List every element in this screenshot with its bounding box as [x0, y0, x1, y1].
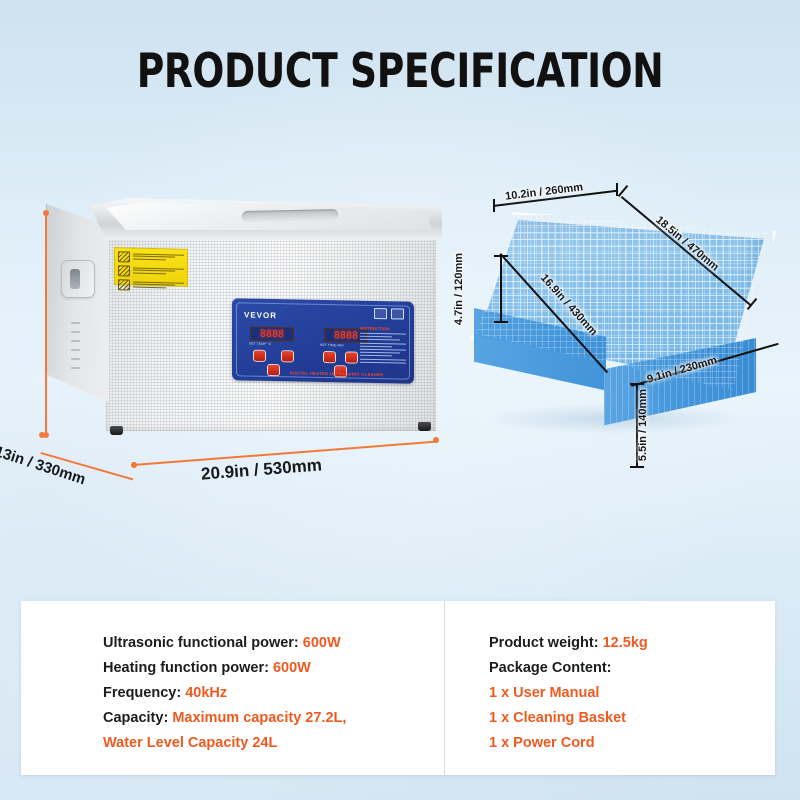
spec-row: Frequency: 40kHz [103, 681, 444, 706]
control-panel[interactable]: VEVOR 8888 SET TEMP °C 8888 SET TIME MIN… [232, 298, 414, 383]
time-down-button[interactable] [346, 352, 357, 362]
instruction-heading: INSTRUCTION [360, 326, 406, 332]
timer-display-caption: SET TIME MIN [320, 343, 344, 347]
cleaner-side-vents [71, 322, 85, 386]
brand-logo: VEVOR [244, 310, 277, 320]
cleaner-side-handle [61, 260, 95, 298]
heat-start-button[interactable] [268, 365, 279, 375]
spec-row: Product weight: 12.5kg [489, 631, 775, 656]
cleaning-basket-illustration [470, 198, 780, 468]
dimension-endpoint [43, 210, 49, 216]
spec-label: Heating function power: [103, 660, 269, 676]
spec-row: Capacity: Maximum capacity 27.2L, [103, 706, 444, 731]
basket-dimension-tick [494, 321, 508, 323]
warning-icon [118, 251, 130, 262]
package-item: 1 x Power Cord [489, 731, 775, 756]
caution-icon [118, 265, 130, 276]
instruction-block: INSTRUCTION [360, 326, 406, 366]
dimension-endpoint [39, 432, 45, 438]
spec-value: 600W [303, 635, 341, 651]
degas-icon [374, 308, 387, 319]
spec-row: Water Level Capacity 24L [103, 731, 444, 756]
temp-up-button[interactable] [254, 351, 265, 361]
spec-row: Ultrasonic functional power: 600W [103, 631, 444, 656]
spec-value: 600W [273, 660, 311, 676]
warning-text-lines [133, 281, 184, 290]
cleaner-height-label: 12.8in / 325mm [0, 260, 3, 367]
cleaner-foot [418, 422, 431, 431]
basket-dimension-tick [618, 185, 629, 197]
spec-column-left: Ultrasonic functional power: 600W Heatin… [21, 601, 444, 775]
spec-label: Capacity: [103, 710, 168, 726]
product-specification-page: PRODUCT SPECIFICATION VEVOR [0, 0, 800, 800]
cleaner-side-panel [46, 204, 109, 402]
spec-value: Maximum capacity 27.2L, [172, 710, 346, 726]
temp-down-button[interactable] [282, 351, 293, 361]
spec-value: 12.5kg [603, 635, 648, 651]
temperature-display: 8888 [250, 327, 294, 342]
spec-column-right: Product weight: 12.5kg Package Content: … [444, 601, 775, 775]
heater-icon [391, 308, 404, 319]
spec-row: Package Content: [489, 656, 775, 681]
basket-front-height-label: 5.5in / 140mm [637, 389, 649, 461]
cleaner-lid-handle-recess [242, 209, 338, 222]
package-item: 1 x User Manual [489, 681, 775, 706]
electrical-hazard-icon [118, 279, 130, 290]
time-up-button[interactable] [324, 352, 335, 362]
temperature-display-caption: SET TEMP °C [249, 342, 271, 346]
panel-mode-icons [374, 308, 404, 320]
basket-dimension-tick [493, 199, 495, 212]
spec-label: Ultrasonic functional power: [103, 635, 299, 651]
warning-text-lines [133, 253, 184, 262]
basket-dimension-tick [630, 383, 644, 385]
basket-side-height-label: 4.7in / 120mm [453, 253, 465, 325]
dimension-endpoint [433, 437, 439, 443]
height-dimension-line [45, 213, 47, 435]
page-title: PRODUCT SPECIFICATION [80, 44, 720, 99]
warning-text-lines [133, 267, 184, 276]
package-item: 1 x Cleaning Basket [489, 706, 775, 731]
cleaner-foot [110, 426, 123, 435]
basket-dimension-tick [630, 466, 644, 468]
spec-label: Frequency: [103, 685, 181, 701]
ultrasonic-cleaner-illustration: VEVOR 8888 SET TEMP °C 8888 SET TIME MIN… [44, 198, 444, 460]
spec-value: 40kHz [185, 685, 227, 701]
basket-side-height-line [500, 255, 502, 323]
warning-sticker [114, 247, 188, 287]
dimension-endpoint [131, 462, 137, 468]
specification-card: Ultrasonic functional power: 600W Heatin… [21, 601, 775, 775]
spec-label: Product weight: [489, 635, 599, 651]
spec-row: Heating function power: 600W [103, 656, 444, 681]
